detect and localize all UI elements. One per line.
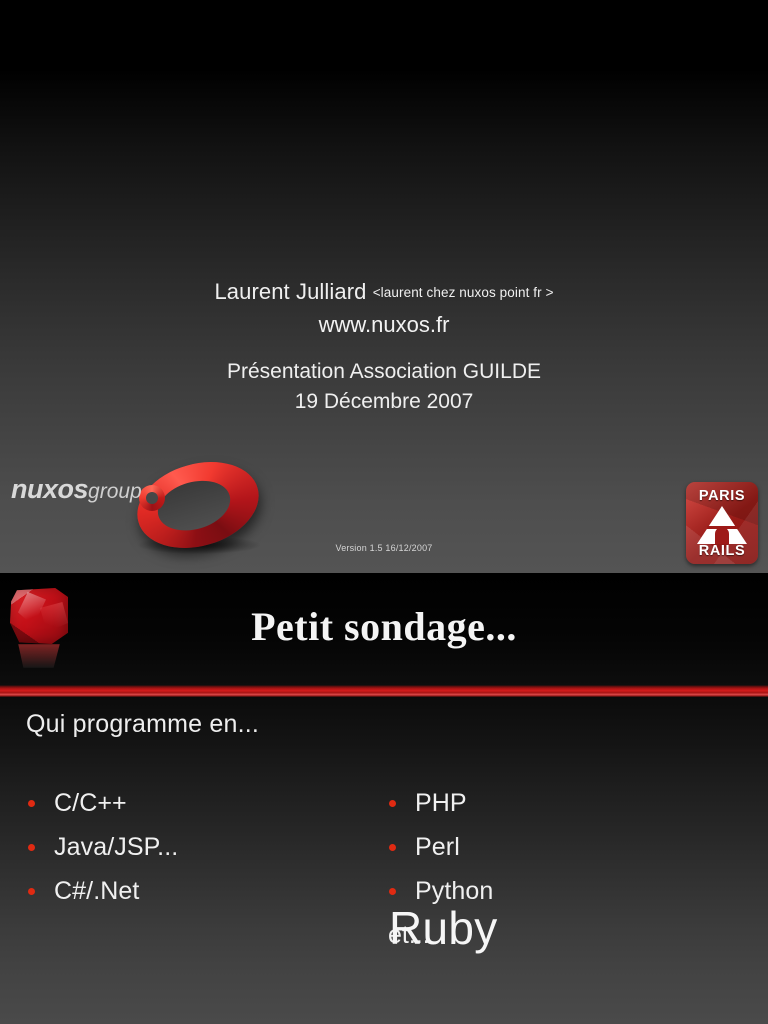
author-email: <laurent chez nuxos point fr > xyxy=(373,285,554,300)
list-item: C#/.Net xyxy=(22,869,372,913)
presentation-page: Laurent Julliard <laurent chez nuxos poi… xyxy=(0,0,768,1024)
list-item-label: C/C++ xyxy=(54,789,127,818)
badge-top-label: PARIS xyxy=(686,488,758,504)
slide-poll-title: Petit sondage... xyxy=(0,603,768,650)
author-name: Laurent Julliard xyxy=(214,279,366,304)
paris-rails-badge: PARIS RAILS xyxy=(686,482,758,564)
version-label: Version 1.5 16/12/2007 xyxy=(0,543,768,553)
badge-bottom-label: RAILS xyxy=(686,543,758,559)
event-date: 19 Décembre 2007 xyxy=(0,387,768,417)
event-block: Présentation Association GUILDE 19 Décem… xyxy=(0,357,768,417)
nuxos-wordmark-bold: nuxos xyxy=(11,474,88,504)
title-text-block: Laurent Julliard <laurent chez nuxos poi… xyxy=(0,277,768,417)
list-item-label: PHP xyxy=(415,789,467,818)
bullet-icon xyxy=(389,800,396,807)
slide-poll: Petit sondage... Qui programme en... C/C… xyxy=(0,573,768,1024)
bullet-icon xyxy=(389,844,396,851)
red-divider xyxy=(0,685,768,697)
event-name: Présentation Association GUILDE xyxy=(0,357,768,387)
list-item: PHP xyxy=(383,781,743,825)
bullet-icon xyxy=(389,888,396,895)
list-item-label: C#/.Net xyxy=(54,877,139,906)
poll-highlight-answer: Ruby xyxy=(389,901,498,955)
slide-poll-header: Petit sondage... xyxy=(0,573,768,685)
list-item-label: Java/JSP... xyxy=(54,833,178,862)
list-item-label: Perl xyxy=(415,833,460,862)
bullet-icon xyxy=(28,844,35,851)
nuxos-wordmark-light: group xyxy=(88,480,142,503)
nuxos-wordmark: nuxosgroup xyxy=(11,474,142,505)
author-line: Laurent Julliard <laurent chez nuxos poi… xyxy=(0,277,768,310)
slide-poll-body: Qui programme en... C/C++ Java/JSP... C#… xyxy=(0,697,768,1024)
list-item: C/C++ xyxy=(22,781,372,825)
list-item: Java/JSP... xyxy=(22,825,372,869)
bullet-icon xyxy=(28,800,35,807)
nuxos-dot-icon xyxy=(139,485,165,511)
bullet-icon xyxy=(28,888,35,895)
list-item: Perl xyxy=(383,825,743,869)
slide-title: Laurent Julliard <laurent chez nuxos poi… xyxy=(0,0,768,573)
poll-question: Qui programme en... xyxy=(26,710,259,739)
website-line: www.nuxos.fr xyxy=(0,310,768,339)
eiffel-tower-leg xyxy=(715,527,729,544)
poll-left-column: C/C++ Java/JSP... C#/.Net xyxy=(22,781,372,913)
